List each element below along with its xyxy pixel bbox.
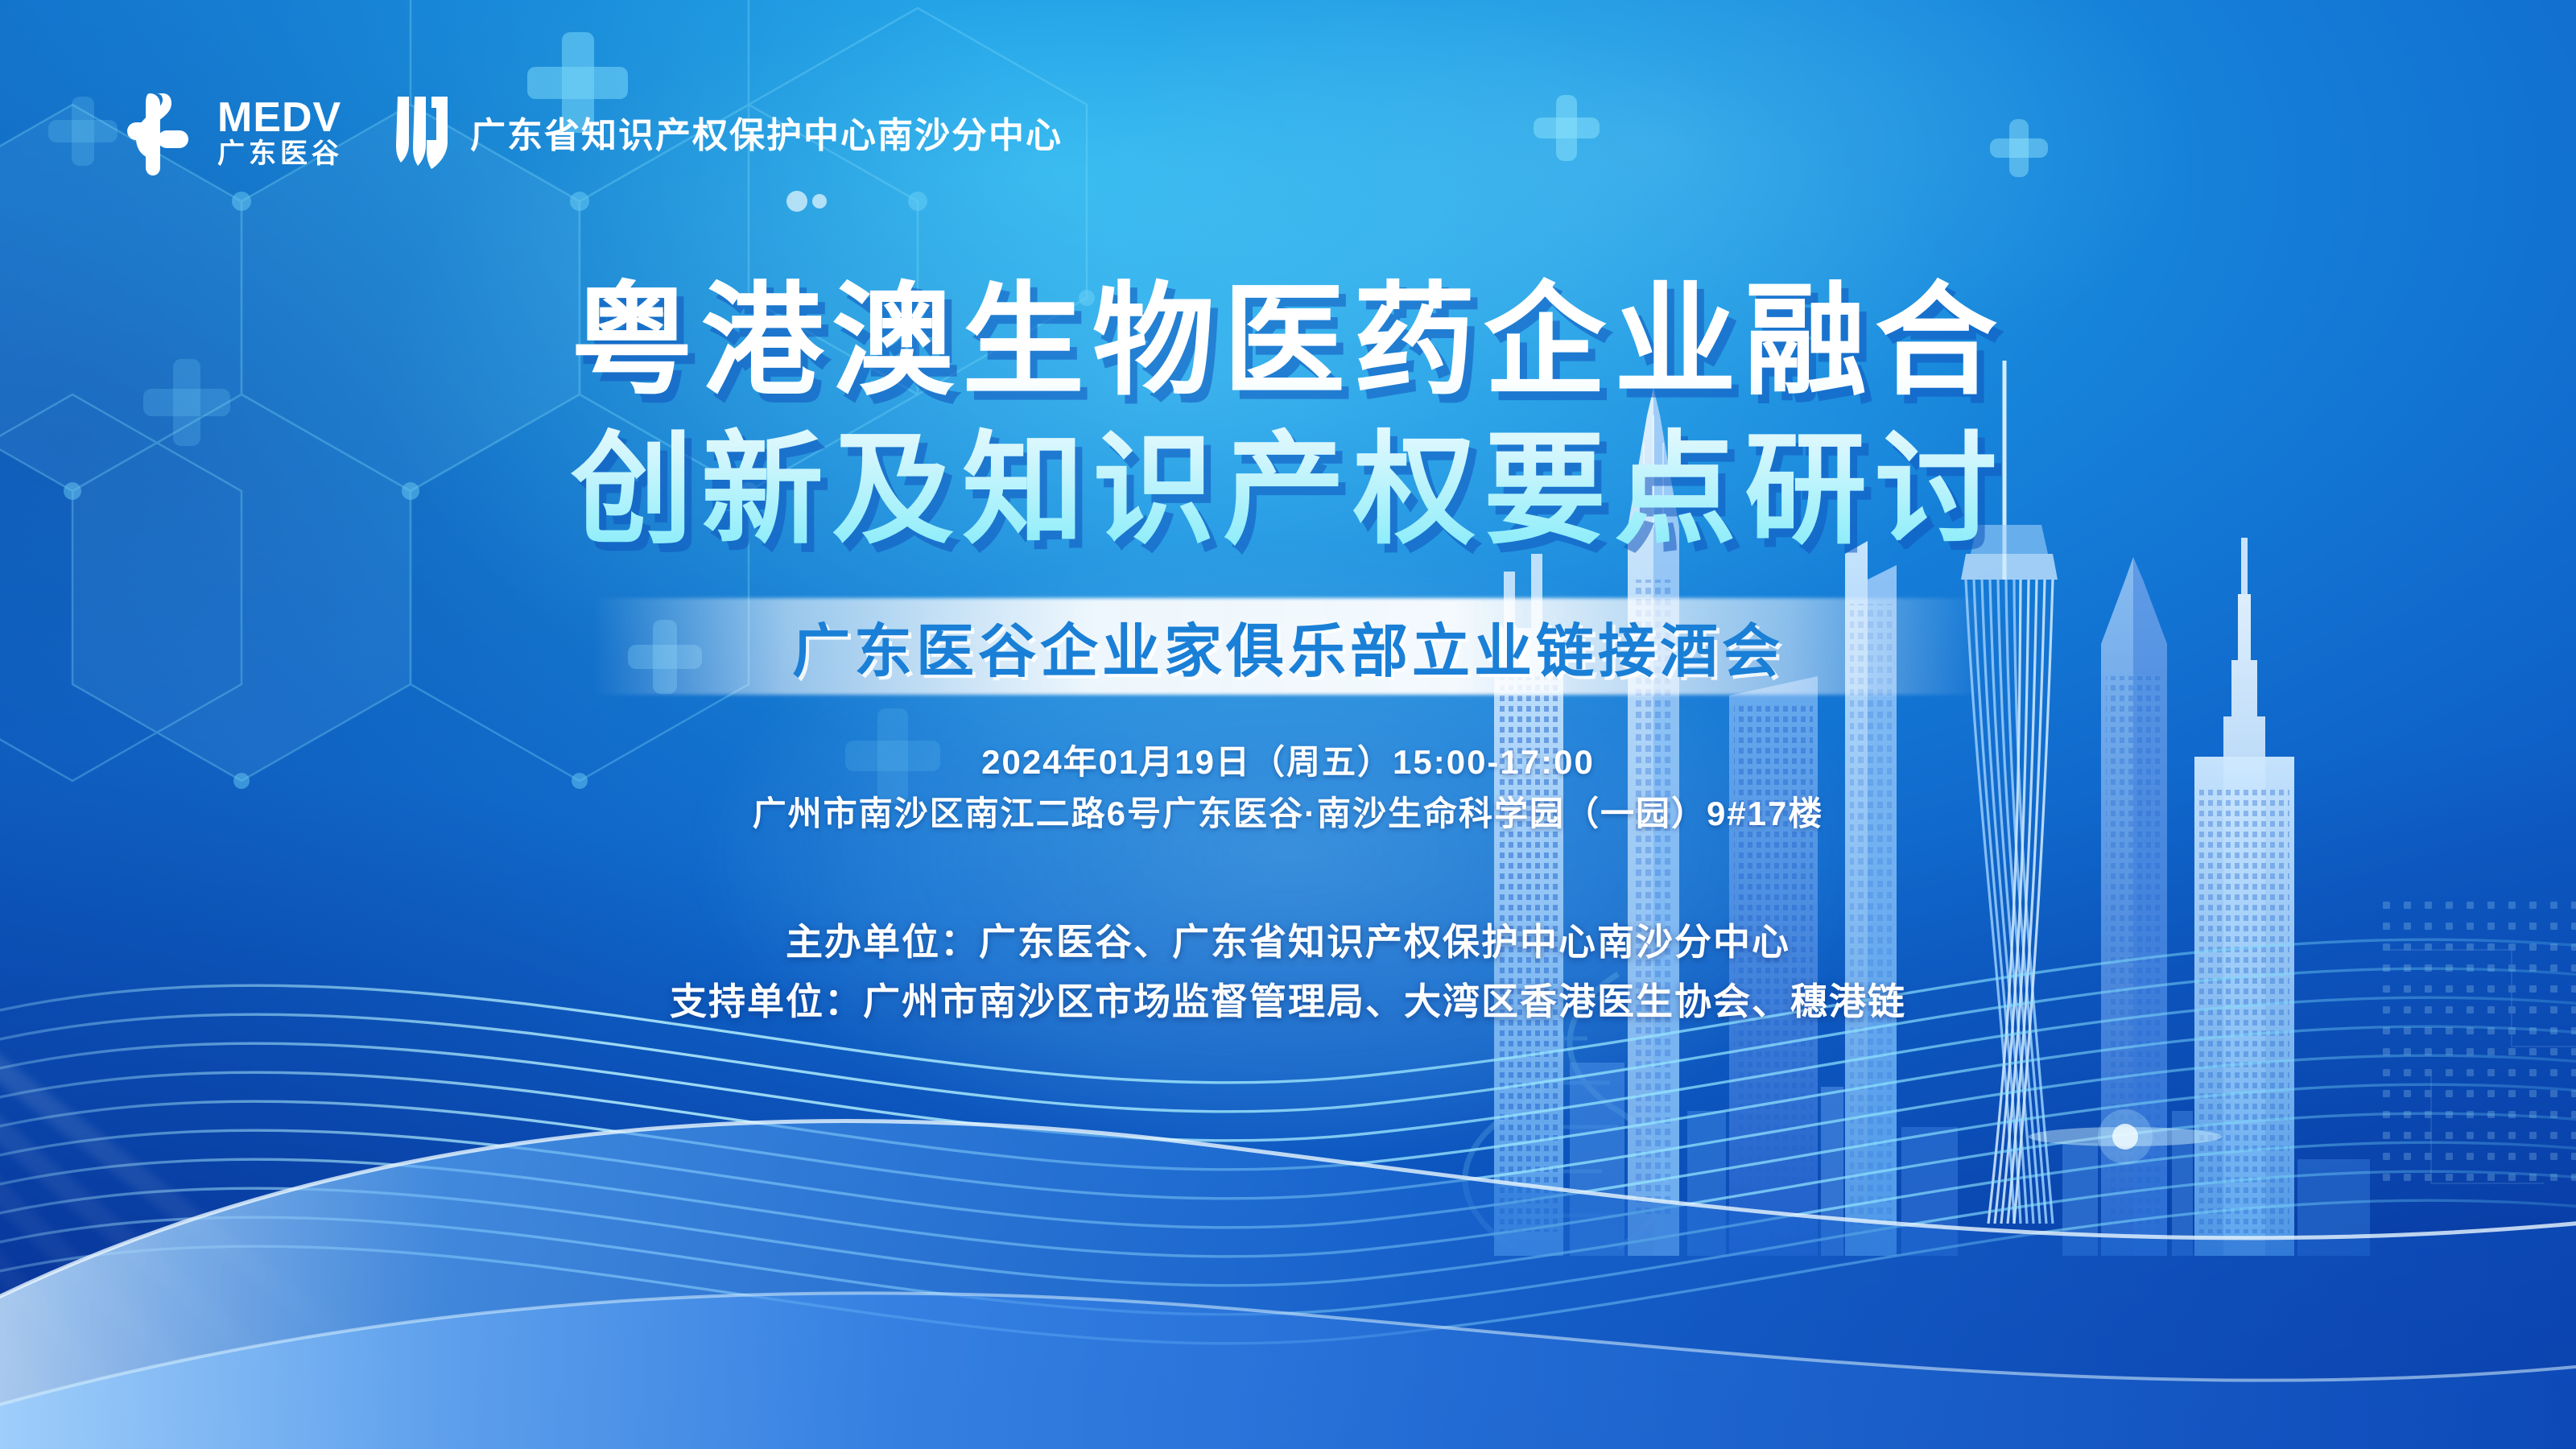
gip-name-cn: 广东省知识产权保护中心南沙分中心: [470, 106, 1063, 158]
medical-cross-icon: [1534, 95, 1600, 161]
event-address: 广州市南沙区南江二路6号广东医谷·南沙生命科学园（一园）9#17楼: [0, 788, 2576, 840]
subtitle-band: 广东医谷企业家俱乐部立业链接酒会: [0, 598, 2576, 695]
medv-caduceus-cross-logo: [113, 89, 200, 175]
medical-cross-icon: [48, 97, 118, 166]
medv-logo: MEDV 广东医谷: [113, 89, 343, 175]
organizer-support: 支持单位：广州市南沙区市场监督管理局、大湾区香港医生协会、穗港链: [0, 972, 2576, 1032]
medv-logo-text: MEDV 广东医谷: [217, 97, 343, 167]
title-line-2: 创新及知识产权要点研讨: [0, 415, 2576, 563]
page-subtitle: 广东医谷企业家俱乐部立业链接酒会: [792, 604, 1784, 688]
gip-logo: 广东省知识产权保护中心南沙分中心: [393, 93, 1063, 171]
header-logos: MEDV 广东医谷 广东省知识产权保护中心南沙分中心: [113, 89, 1063, 175]
title-line-1: 粤港澳生物医药企业融合: [0, 266, 2576, 415]
organizer-host: 主办单位：广东医谷、广东省知识产权保护中心南沙分中心: [0, 912, 2576, 972]
medv-name-cn: 广东医谷: [217, 140, 343, 167]
event-meta: 2024年01月19日（周五）15:00-17:00 广州市南沙区南江二路6号广…: [0, 737, 2576, 840]
medv-name-en: MEDV: [217, 97, 343, 138]
event-datetime: 2024年01月19日（周五）15:00-17:00: [0, 737, 2576, 788]
page-title: 粤港澳生物医药企业融合 创新及知识产权要点研讨: [0, 266, 2576, 564]
gip-nansha-shield-logo: [393, 93, 452, 171]
organizer-block: 主办单位：广东医谷、广东省知识产权保护中心南沙分中心 支持单位：广州市南沙区市场…: [0, 912, 2576, 1032]
event-banner: MEDV 广东医谷 广东省知识产权保护中心南沙分中心 粤港澳生物医药企业融合 创…: [0, 0, 2576, 1449]
medical-cross-icon: [1990, 119, 2048, 177]
banner-content: 粤港澳生物医药企业融合 创新及知识产权要点研讨 广东医谷企业家俱乐部立业链接酒会…: [0, 266, 2576, 1032]
